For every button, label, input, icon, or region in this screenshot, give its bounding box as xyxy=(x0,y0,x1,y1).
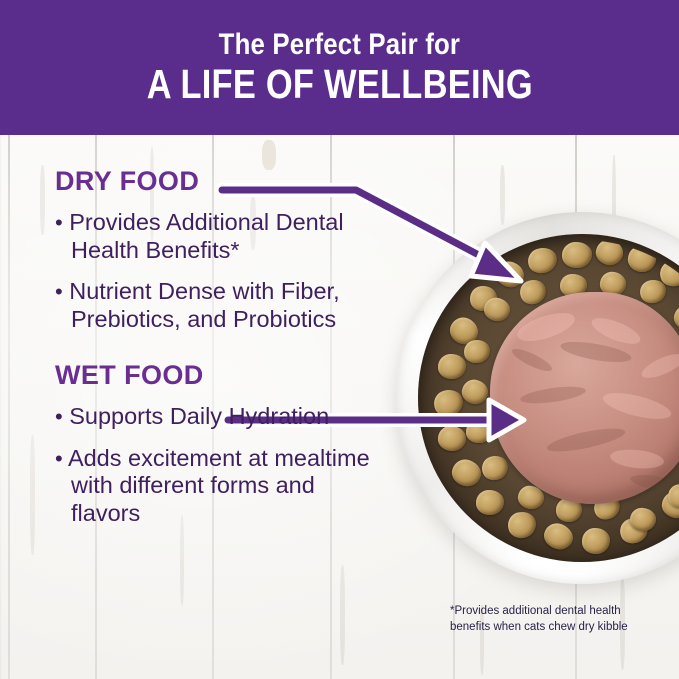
kibble-piece xyxy=(476,490,504,515)
list-item: • Adds excitement at mealtime with diffe… xyxy=(55,445,371,528)
wood-knot xyxy=(262,140,276,170)
pate-texture xyxy=(514,307,578,346)
kibble-piece xyxy=(506,510,538,540)
infographic-canvas: The Perfect Pair for A LIFE OF WELLBEING xyxy=(0,0,679,679)
bullet-dot: • xyxy=(55,210,63,235)
pet-food-bowl-photo xyxy=(396,212,679,584)
dry-food-bullet-list: • Provides Additional Dental Health Bene… xyxy=(55,209,385,334)
header-banner: The Perfect Pair for A LIFE OF WELLBEING xyxy=(0,0,679,135)
kibble-piece xyxy=(431,387,465,419)
footnote-line-2: benefits when cats chew dry kibble xyxy=(450,620,670,636)
bullet-text: Adds excitement at mealtime with differe… xyxy=(68,445,370,526)
pate-texture xyxy=(601,388,674,424)
bullet-text: Nutrient Dense with Fiber, Prebiotics, a… xyxy=(69,278,339,332)
wet-food-bullet-list: • Supports Daily Hydration • Adds excite… xyxy=(55,403,385,528)
wood-grain xyxy=(30,435,35,555)
kibble-piece xyxy=(479,453,510,483)
wet-food-section: WET FOOD • Supports Daily Hydration • Ad… xyxy=(55,362,385,528)
footnote-line-1: *Provides additional dental health xyxy=(450,604,670,620)
pate-texture xyxy=(609,447,665,471)
wood-grain xyxy=(180,515,184,605)
wet-food-pate xyxy=(490,292,679,504)
plank-seam xyxy=(8,135,10,679)
kibble-piece xyxy=(438,354,466,379)
header-title-line-2: A LIFE OF WELLBEING xyxy=(146,63,532,106)
feature-copy-column: DRY FOOD • Provides Additional Dental He… xyxy=(55,168,385,528)
kibble-piece xyxy=(582,528,610,554)
wet-food-heading: WET FOOD xyxy=(55,362,385,389)
bullet-dot: • xyxy=(55,404,63,429)
wood-grain xyxy=(340,565,345,665)
bullet-text: Supports Daily Hydration xyxy=(69,403,329,429)
dry-food-section: DRY FOOD • Provides Additional Dental He… xyxy=(55,168,385,334)
list-item: • Provides Additional Dental Health Bene… xyxy=(55,209,371,264)
pate-texture xyxy=(639,349,679,382)
kibble-piece xyxy=(562,242,592,268)
dry-kibble-layer xyxy=(424,240,679,556)
list-item: • Supports Daily Hydration xyxy=(55,403,371,431)
pate-texture xyxy=(629,472,679,493)
bullet-dot: • xyxy=(55,446,63,471)
bullet-dot: • xyxy=(55,279,63,304)
kibble-piece xyxy=(459,377,491,407)
kibble-piece xyxy=(540,519,577,554)
wood-grain xyxy=(40,165,45,235)
kibble-piece xyxy=(448,456,484,490)
list-item: • Nutrient Dense with Fiber, Prebiotics,… xyxy=(55,278,371,333)
pate-texture xyxy=(519,383,586,406)
kibble-piece xyxy=(466,420,492,443)
bullet-text: Provides Additional Dental Health Benefi… xyxy=(69,209,343,263)
dry-food-heading: DRY FOOD xyxy=(55,168,385,195)
kibble-piece xyxy=(593,240,626,269)
kibble-piece xyxy=(526,245,560,275)
kibble-piece xyxy=(437,425,467,453)
pate-texture xyxy=(510,345,555,375)
header-title-line-1: The Perfect Pair for xyxy=(219,29,460,61)
footnote: *Provides additional dental health benef… xyxy=(450,604,670,635)
kibble-piece xyxy=(463,339,491,365)
